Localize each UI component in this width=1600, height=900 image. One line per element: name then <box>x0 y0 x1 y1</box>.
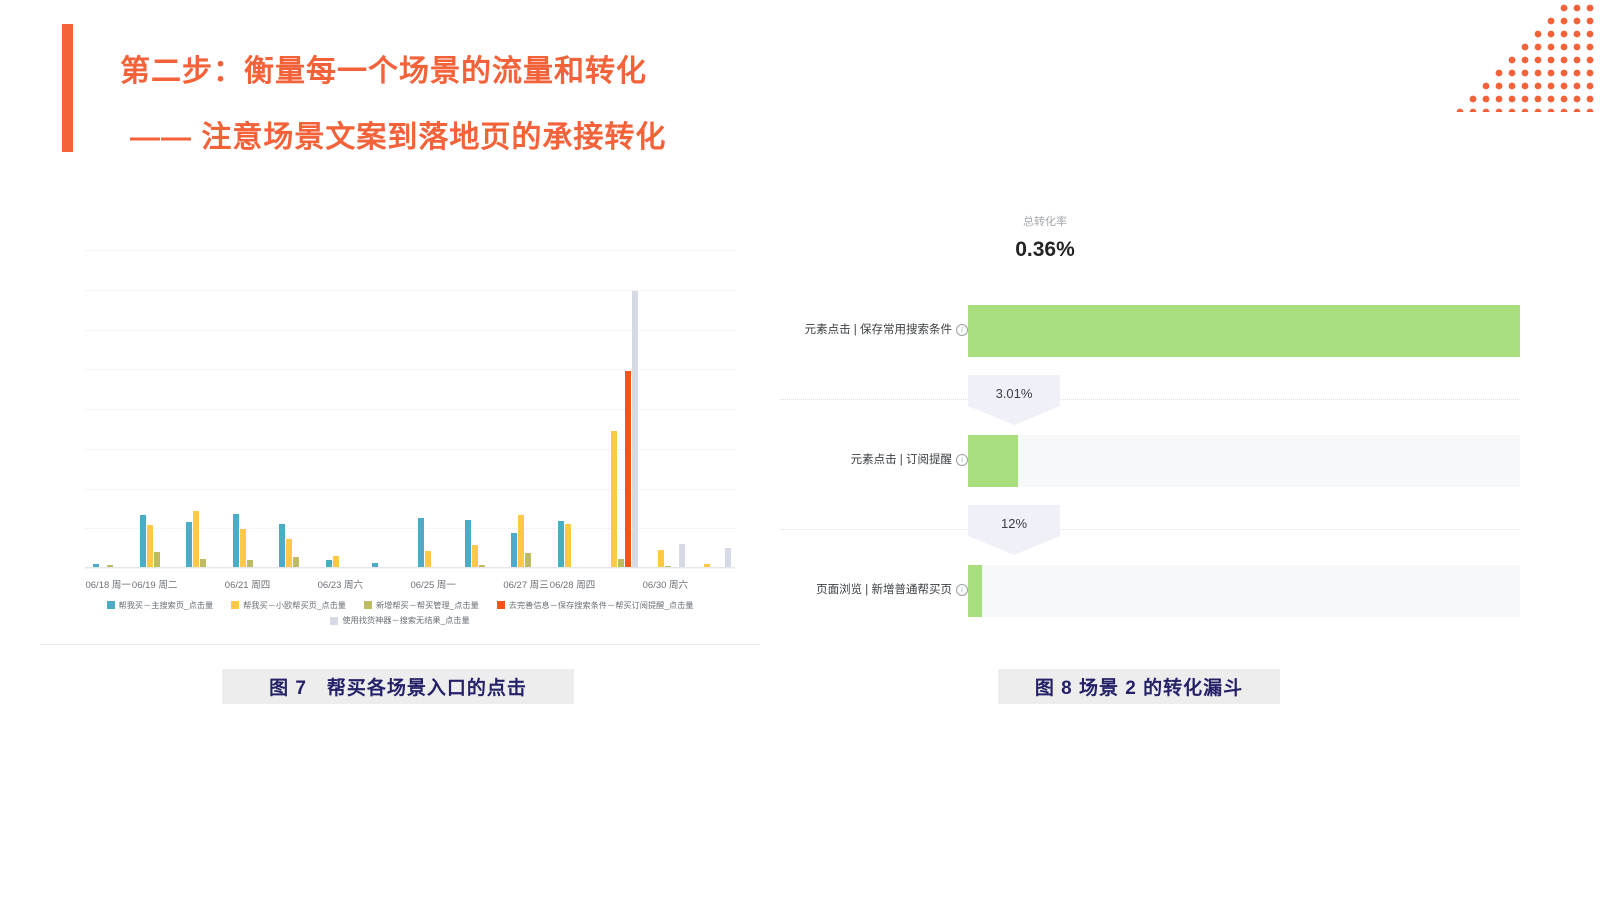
bar-segment <box>425 551 431 568</box>
legend-swatch-icon <box>330 617 338 625</box>
bar-group <box>465 250 499 568</box>
bar-segment <box>186 522 192 568</box>
bar-segment <box>525 553 531 568</box>
bar-group <box>326 250 360 568</box>
bar-segment <box>418 518 424 568</box>
page-title: 第二步：衡量每一个场景的流量和转化 <box>120 46 647 90</box>
bar-segment <box>147 525 153 568</box>
x-axis-tick-label: 06/25 周一 <box>410 577 455 591</box>
bar-group <box>558 250 592 568</box>
bar-group <box>697 250 731 568</box>
legend-item[interactable]: 帮我买－主搜索页_点击量 <box>107 598 214 613</box>
legend-item-label: 使用找货神器－搜索无结果_点击量 <box>342 613 469 628</box>
legend-item[interactable]: 使用找货神器－搜索无结果_点击量 <box>330 613 469 628</box>
x-axis-tick-label: 06/23 周六 <box>318 577 363 591</box>
funnel-conversion-step: 12% <box>968 505 1060 555</box>
x-axis-tick-label: 06/27 周三 <box>503 577 548 591</box>
legend-swatch-icon <box>107 601 115 609</box>
legend-item[interactable]: 去完善信息－保存搜索条件－帮买订阅提醒_点击量 <box>497 598 694 613</box>
bar-group <box>418 250 452 568</box>
info-icon[interactable]: i <box>956 324 968 336</box>
legend-swatch-icon <box>364 601 372 609</box>
bar-segment <box>233 514 239 568</box>
funnel-track <box>968 435 1520 487</box>
bar-segment <box>558 521 564 568</box>
funnel-row: 页面浏览 | 新增普通帮买页i <box>780 565 1540 617</box>
funnel-step-label: 页面浏览 | 新增普通帮买页i <box>816 581 968 597</box>
x-axis-tick-label: 06/18 周一 <box>85 577 130 591</box>
bar-segment <box>679 544 685 568</box>
bar-chart-plot-area <box>85 250 735 568</box>
legend-item-label: 帮我买－小欧帮买页_点击量 <box>243 598 346 613</box>
bar-chart-legend: 帮我买－主搜索页_点击量帮我买－小欧帮买页_点击量新增帮买－帮买管理_点击量去完… <box>40 597 760 628</box>
legend-item[interactable]: 新增帮买－帮买管理_点击量 <box>364 598 479 613</box>
dot-grid-icon <box>1452 0 1600 112</box>
bar-segment <box>511 533 517 568</box>
funnel-track <box>968 565 1520 617</box>
bar-segment <box>611 431 617 568</box>
funnel-step-label-text: 页面浏览 | 新增普通帮买页 <box>816 584 952 596</box>
bar-segment <box>286 539 292 568</box>
funnel-bar <box>968 305 1520 357</box>
bar-segment <box>625 371 631 568</box>
bar-segment <box>658 550 664 568</box>
bar-group <box>372 250 406 568</box>
funnel-row: 元素点击 | 订阅提醒i <box>780 435 1540 487</box>
bar-segment <box>240 529 246 568</box>
funnel-step-label: 元素点击 | 保存常用搜索条件i <box>805 321 968 337</box>
bar-segment <box>632 291 638 568</box>
bar-segment <box>279 524 285 569</box>
bar-segment <box>725 548 731 568</box>
info-icon[interactable]: i <box>956 454 968 466</box>
decorative-dot-grid <box>1452 0 1600 112</box>
bar-group <box>279 250 313 568</box>
funnel-divider <box>780 529 1520 530</box>
funnel-total-conversion: 总转化率 0.36% <box>985 213 1105 262</box>
bar-chart-panel: 06/18 周一06/19 周二06/21 周四06/23 周六06/25 周一… <box>40 185 760 645</box>
funnel-row: 元素点击 | 保存常用搜索条件i <box>780 305 1540 357</box>
bar-segment <box>518 515 524 568</box>
gridline <box>85 568 735 569</box>
bar-segment <box>140 515 146 568</box>
funnel-conversion-step: 3.01% <box>968 375 1060 425</box>
x-axis-tick-label: 06/28 周四 <box>550 577 595 591</box>
bar-segment <box>472 545 478 569</box>
funnel-track <box>968 305 1520 357</box>
title-accent-bar <box>62 24 73 152</box>
funnel-step-label-text: 元素点击 | 订阅提醒 <box>851 454 952 466</box>
legend-item-label: 新增帮买－帮买管理_点击量 <box>376 598 479 613</box>
legend-item[interactable]: 帮我买－小欧帮买页_点击量 <box>231 598 346 613</box>
bar-group <box>140 250 174 568</box>
slide-title-block: 第二步：衡量每一个场景的流量和转化 —— 注意场景文案到落地页的承接转化 <box>62 24 962 152</box>
funnel-step-label: 元素点击 | 订阅提醒i <box>851 451 968 467</box>
bar-group <box>651 250 685 568</box>
funnel-step-label-text: 元素点击 | 保存常用搜索条件 <box>805 324 952 336</box>
funnel-conversion-value: 3.01% <box>968 386 1060 401</box>
funnel-conversion-value: 12% <box>968 516 1060 531</box>
bar-segment <box>465 520 471 568</box>
x-axis-tick-label: 06/30 周六 <box>643 577 688 591</box>
funnel-total-label: 总转化率 <box>985 213 1105 229</box>
funnel-total-value: 0.36% <box>985 238 1105 262</box>
bar-group <box>511 250 545 568</box>
bar-group <box>93 250 127 568</box>
page-subtitle: —— 注意场景文案到落地页的承接转化 <box>130 112 666 156</box>
x-axis-tick-label: 06/19 周二 <box>132 577 177 591</box>
figure-7-caption: 图 7 帮买各场景入口的点击 <box>222 669 574 704</box>
info-icon[interactable]: i <box>956 584 968 596</box>
bar-chart-axis-line <box>85 567 735 568</box>
figure-8-caption: 图 8 场景 2 的转化漏斗 <box>998 669 1280 704</box>
bar-chart-bottom-rule <box>40 644 760 645</box>
legend-swatch-icon <box>231 601 239 609</box>
legend-swatch-icon <box>497 601 505 609</box>
bar-group <box>233 250 267 568</box>
funnel-bar <box>968 435 1018 487</box>
funnel-divider <box>780 399 1520 400</box>
legend-item-label: 去完善信息－保存搜索条件－帮买订阅提醒_点击量 <box>509 598 694 613</box>
bar-group <box>604 250 638 568</box>
bar-segment <box>565 524 571 569</box>
bar-group <box>186 250 220 568</box>
funnel-bar <box>968 565 982 617</box>
x-axis-tick-label: 06/21 周四 <box>225 577 270 591</box>
funnel-chart-panel: 总转化率 0.36% 元素点击 | 保存常用搜索条件i元素点击 | 订阅提醒i页… <box>780 185 1540 645</box>
legend-item-label: 帮我买－主搜索页_点击量 <box>119 598 214 613</box>
bar-segment <box>154 552 160 568</box>
bar-segment <box>193 511 199 568</box>
